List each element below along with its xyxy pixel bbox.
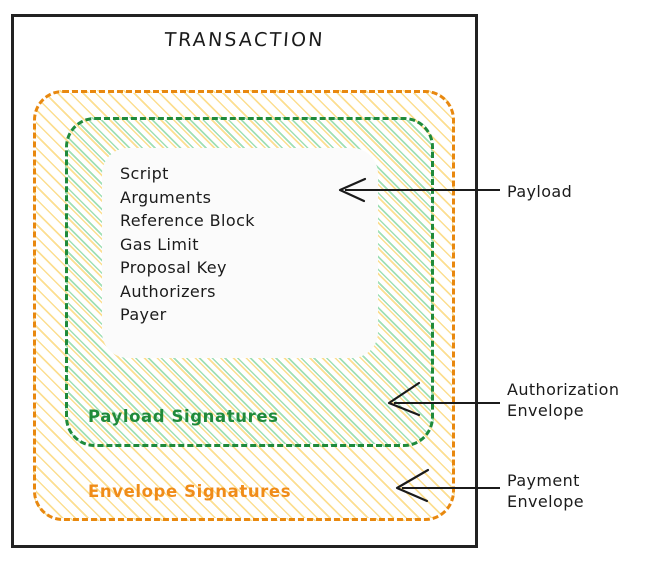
payload-field: Authorizers [120,280,255,304]
payload-field: Arguments [120,186,255,210]
payload-field-list: Script Arguments Reference Block Gas Lim… [120,162,255,327]
annotation-payment-envelope: Payment Envelope [507,470,584,512]
annotation-payload: Payload [507,181,572,202]
annotation-authorization-envelope: Authorization Envelope [507,379,619,421]
payload-field: Script [120,162,255,186]
payload-field: Gas Limit [120,233,255,257]
payload-region: Script Arguments Reference Block Gas Lim… [102,148,378,358]
transaction-title: TRANSACTION [10,29,479,51]
payload-signatures-label: Payload Signatures [88,407,279,426]
payload-field: Proposal Key [120,256,255,280]
payload-field: Reference Block [120,209,255,233]
payload-field: Payer [120,303,255,327]
envelope-signatures-label: Envelope Signatures [88,482,291,501]
diagram-canvas: TRANSACTION Script Arguments Reference B… [0,0,664,569]
